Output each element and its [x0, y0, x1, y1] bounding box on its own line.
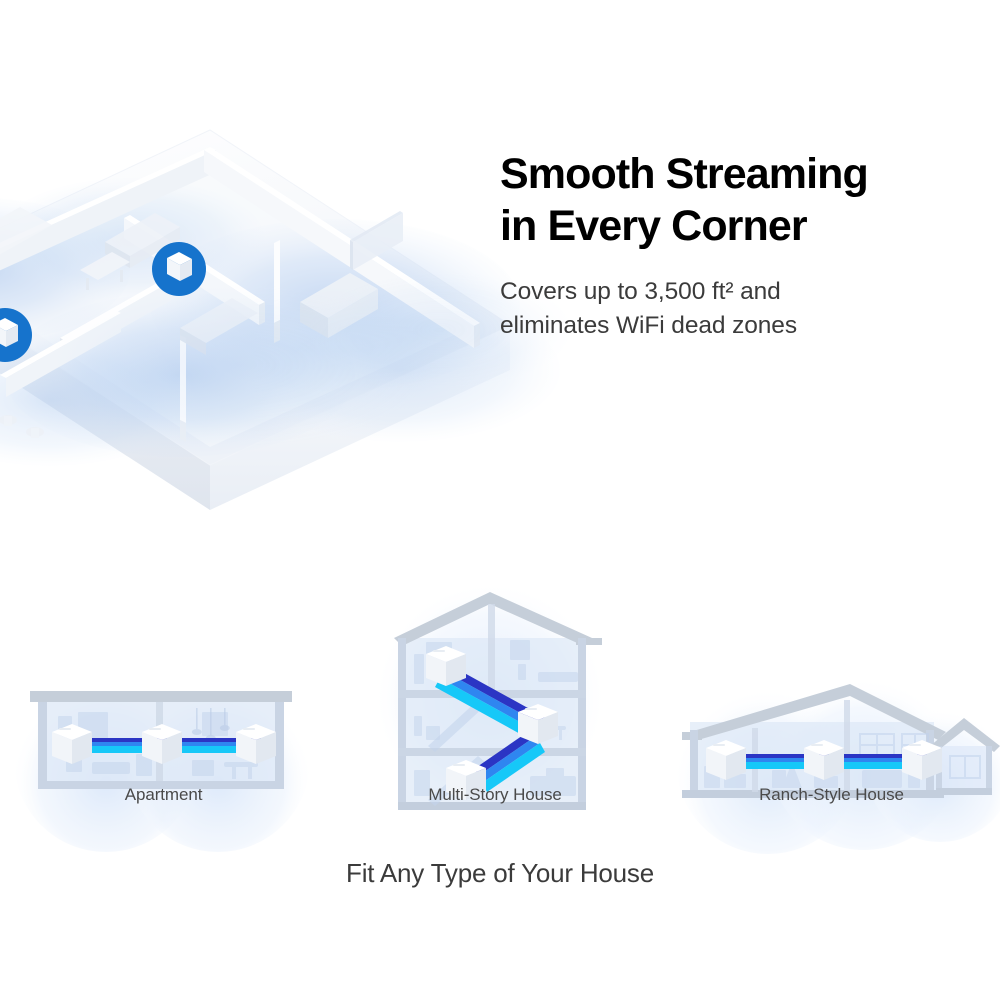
mesh-unit-1	[706, 740, 746, 780]
floorplan-illustration	[0, 120, 540, 520]
footer-tagline: Fit Any Type of Your House	[0, 858, 1000, 889]
mesh-unit-2	[142, 724, 182, 764]
scene-captions: Apartment Multi-Story House Ranch-Style …	[0, 785, 1000, 819]
mesh-unit-middle	[518, 704, 558, 744]
hero-subtitle: Covers up to 3,500 ft² and eliminates Wi…	[500, 275, 970, 343]
caption-apartment: Apartment	[0, 785, 327, 805]
product-feature-image: Smooth Streaming in Every Corner Covers …	[0, 0, 1000, 1000]
mesh-unit-2	[804, 740, 844, 780]
caption-multi-story: Multi-Story House	[371, 785, 619, 805]
page-title: Smooth Streaming in Every Corner	[500, 148, 970, 253]
mesh-unit-1	[52, 724, 92, 764]
mesh-node-badge-2	[152, 242, 206, 296]
hero-section: Smooth Streaming in Every Corner Covers …	[0, 0, 1000, 520]
headline-line-2: in Every Corner	[500, 200, 970, 252]
subhead-line-1: Covers up to 3,500 ft² and	[500, 275, 970, 309]
mesh-unit-3	[902, 740, 942, 780]
headline-line-1: Smooth Streaming	[500, 148, 970, 200]
mesh-unit-top	[426, 646, 466, 686]
caption-ranch-style: Ranch-Style House	[663, 785, 1000, 805]
mesh-unit-3	[236, 724, 276, 764]
hero-text-block: Smooth Streaming in Every Corner Covers …	[500, 148, 970, 343]
subhead-line-2: eliminates WiFi dead zones	[500, 309, 970, 343]
